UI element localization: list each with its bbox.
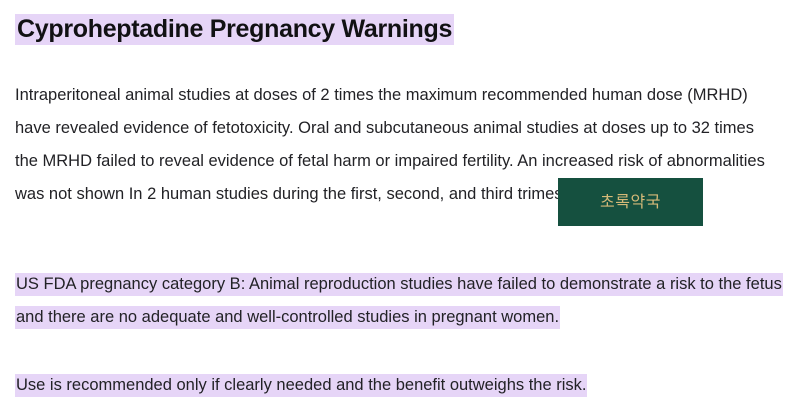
paragraph-fda-category-highlight: US FDA pregnancy category B: Animal repr…	[15, 273, 783, 329]
paragraph-recommendation-highlight: Use is recommended only if clearly neede…	[15, 374, 587, 397]
pharmacy-watermark-badge: 초록약국	[558, 178, 703, 226]
document-page: Cyproheptadine Pregnancy Warnings Intrap…	[0, 0, 800, 401]
page-title: Cyproheptadine Pregnancy Warnings	[15, 12, 454, 46]
paragraph-recommendation: Use is recommended only if clearly neede…	[15, 369, 785, 402]
paragraph-fda-category: US FDA pregnancy category B: Animal repr…	[15, 268, 785, 334]
pharmacy-watermark-label: 초록약국	[600, 194, 661, 210]
page-title-highlight: Cyproheptadine Pregnancy Warnings	[15, 14, 454, 45]
